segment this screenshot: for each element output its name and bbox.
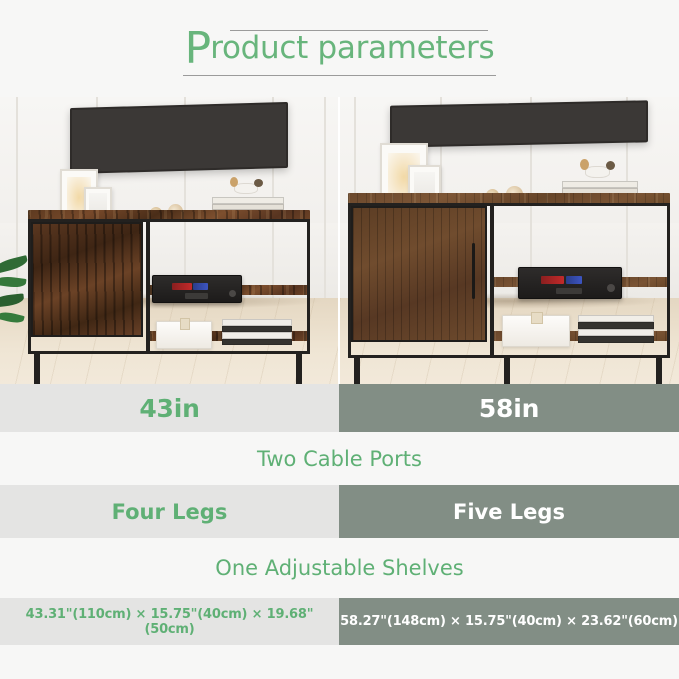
page-title-initial: P bbox=[185, 23, 211, 74]
spec-dimensions-right: 58.27"(148cm) × 15.75"(40cm) × 23.62"(60… bbox=[339, 598, 679, 645]
dvd-player bbox=[518, 267, 622, 299]
stand-leg bbox=[34, 351, 40, 384]
spec-cable-ports: Two Cable Ports bbox=[0, 432, 679, 485]
book-stack-bottom bbox=[578, 315, 654, 343]
spec-size-left: 43in bbox=[0, 384, 339, 432]
spec-row-dimensions: 43.31"(110cm) × 15.75"(40cm) × 19.68" (5… bbox=[0, 598, 679, 645]
storage-bin bbox=[156, 321, 212, 349]
stand-leg bbox=[354, 355, 360, 384]
title-rule-top bbox=[230, 30, 489, 31]
stand-leg bbox=[656, 355, 662, 384]
spec-legs-left: Four Legs bbox=[0, 485, 339, 538]
dog-figurine bbox=[578, 159, 616, 183]
page-header: Product parameters bbox=[0, 0, 679, 97]
product-photo-left bbox=[0, 97, 338, 384]
dog-figurine bbox=[228, 177, 264, 199]
spec-size-right: 58in bbox=[339, 384, 679, 432]
wall-mounted-tv bbox=[70, 102, 288, 174]
spec-table: 43in 58in Two Cable Ports Four Legs Five… bbox=[0, 384, 679, 645]
title-rule-bottom bbox=[183, 75, 497, 76]
page-title: Product parameters bbox=[185, 27, 495, 71]
spec-legs-right: Five Legs bbox=[339, 485, 679, 538]
spec-shelves: One Adjustable Shelves bbox=[0, 538, 679, 598]
wall-mounted-tv bbox=[390, 100, 648, 147]
book-stack-bottom bbox=[222, 319, 292, 345]
spec-row-legs: Four Legs Five Legs bbox=[0, 485, 679, 538]
sliding-cabinet-door bbox=[351, 206, 487, 342]
title-block: Product parameters bbox=[183, 27, 497, 71]
spec-dimensions-left: 43.31"(110cm) × 15.75"(40cm) × 19.68" (5… bbox=[0, 598, 339, 645]
stand-leg bbox=[296, 351, 302, 384]
storage-bin bbox=[502, 315, 570, 347]
spec-row-cable-ports: Two Cable Ports bbox=[0, 432, 679, 485]
stand-leg bbox=[504, 355, 510, 384]
product-photo-pair bbox=[0, 97, 679, 384]
dvd-player bbox=[152, 275, 242, 303]
product-photo-right bbox=[340, 97, 679, 384]
spec-row-size: 43in 58in bbox=[0, 384, 679, 432]
cabinet-door bbox=[31, 222, 143, 337]
spec-row-shelves: One Adjustable Shelves bbox=[0, 538, 679, 598]
product-parameters-infographic: Product parameters bbox=[0, 0, 679, 679]
page-title-rest: roduct parameters bbox=[210, 30, 494, 66]
door-handle bbox=[472, 243, 475, 299]
